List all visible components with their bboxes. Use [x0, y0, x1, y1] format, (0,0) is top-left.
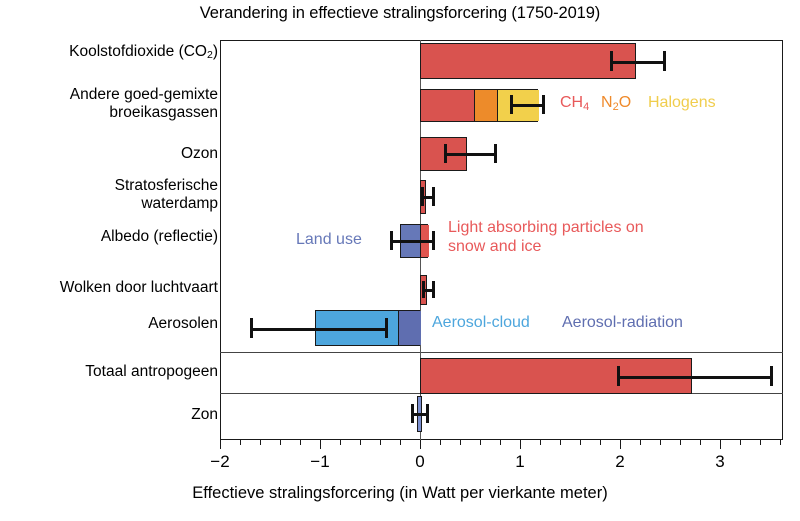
x-tick-3.2: [740, 440, 741, 445]
errorbar-other-ghg: [510, 104, 542, 107]
errorcap-aerosols-low: [250, 318, 253, 338]
errorcap-swv-low: [421, 187, 424, 206]
x-tick-1: [520, 440, 521, 449]
x-tick--1.2: [300, 440, 301, 445]
ylabel-other-ghg: Andere goed-gemixte broeikasgassen: [70, 86, 218, 121]
bar-segment-n2o: [475, 90, 498, 121]
ylabel-ozone: Ozon: [181, 145, 218, 163]
errorcap-aerosols-high: [385, 318, 388, 338]
x-tick-2.4: [660, 440, 661, 445]
bar-segment-ch4: [421, 90, 475, 121]
x-tick--1.4: [280, 440, 281, 445]
errorcap-total-low: [617, 366, 620, 386]
xticklabel-neg2: −2: [190, 452, 250, 472]
x-tick-1.4: [560, 440, 561, 445]
annotation-aerosol-cloud: Aerosol-cloud: [432, 313, 530, 332]
x-tick-0.4: [460, 440, 461, 445]
bar-segment-aerosol-radiation: [399, 311, 421, 345]
x-tick--0.8: [340, 440, 341, 445]
x-tick-1.2: [540, 440, 541, 445]
x-tick--0.4: [380, 440, 381, 445]
xticklabel-2: 2: [590, 452, 650, 472]
ylabel-total-anthropogenic: Totaal antropogeen: [85, 363, 218, 381]
x-tick-0.6: [480, 440, 481, 445]
bar-co2: [420, 43, 636, 79]
errorcap-ghg-low: [510, 95, 513, 114]
x-tick-3: [720, 440, 721, 449]
x-tick-2.6: [680, 440, 681, 445]
ylabel-aviation-clouds: Wolken door luchtvaart: [60, 279, 218, 297]
x-axis-title: Effectieve stralingsforcering (in Watt p…: [0, 484, 800, 503]
x-tick-1.6: [580, 440, 581, 445]
ylabel-albedo: Albedo (reflectie): [101, 228, 218, 246]
errorbar-co2: [610, 61, 663, 64]
x-tick-2.8: [700, 440, 701, 445]
errorbar-albedo: [390, 240, 432, 243]
group-divider-1: [220, 352, 783, 353]
errorcap-ozone-low: [444, 144, 447, 163]
x-tick--1.6: [260, 440, 261, 445]
annotation-halogens: Halogens: [648, 93, 716, 112]
x-tick--0.6: [360, 440, 361, 445]
errorcap-swv-high: [432, 187, 435, 206]
errorcap-albedo-low: [390, 231, 393, 250]
x-tick-1.8: [600, 440, 601, 445]
annotation-ch4: CH4: [560, 93, 589, 114]
annotation-light-absorbing-line1: Light absorbing particles on: [448, 218, 644, 237]
chart-root: Verandering in effectieve stralingsforce…: [0, 0, 800, 521]
x-tick--1: [320, 440, 321, 449]
annotation-aerosol-radiation: Aerosol-radiation: [562, 313, 683, 332]
errorcap-sun-high: [426, 404, 429, 423]
x-tick-3.6: [780, 440, 781, 445]
xticklabel-0: 0: [390, 452, 450, 472]
x-tick-3.4: [760, 440, 761, 445]
x-tick-0.2: [440, 440, 441, 445]
x-tick--0.2: [400, 440, 401, 445]
x-tick--2: [220, 440, 221, 449]
errorcap-ghg-high: [542, 95, 545, 114]
errorcap-aviation-low: [422, 281, 425, 298]
errorcap-sun-low: [411, 404, 414, 423]
x-tick-2.2: [640, 440, 641, 445]
annotation-light-absorbing-particles: Light absorbing particles on snow and ic…: [448, 218, 644, 256]
xticklabel-1: 1: [490, 452, 550, 472]
x-tick-0: [420, 440, 421, 449]
errorcap-total-high: [770, 366, 773, 386]
x-tick-2: [620, 440, 621, 449]
annotation-land-use: Land use: [296, 230, 362, 249]
errorbar-total-anthropogenic: [617, 376, 770, 379]
errorcap-co2-high: [663, 51, 666, 71]
errorcap-ozone-high: [494, 144, 497, 163]
errorcap-aviation-high: [432, 281, 435, 298]
errorbar-ozone: [444, 153, 494, 156]
x-tick-0.8: [500, 440, 501, 445]
xticklabel-3: 3: [690, 452, 750, 472]
xticklabel-neg1: −1: [290, 452, 350, 472]
annotation-light-absorbing-line2: snow and ice: [448, 237, 644, 256]
errorcap-co2-low: [610, 51, 613, 71]
ylabel-co2: Koolstofdioxide (CO2): [69, 43, 218, 63]
chart-title: Verandering in effectieve stralingsforce…: [0, 4, 800, 23]
ylabel-aerosols: Aerosolen: [148, 315, 218, 333]
annotation-n2o: N2O: [601, 93, 631, 114]
ylabel-strat-water-vapour: Stratosferische waterdamp: [115, 177, 218, 212]
ylabel-sun: Zon: [191, 406, 218, 424]
errorcap-albedo-high: [432, 231, 435, 250]
x-tick--1.8: [240, 440, 241, 445]
errorbar-aerosols: [250, 328, 385, 331]
